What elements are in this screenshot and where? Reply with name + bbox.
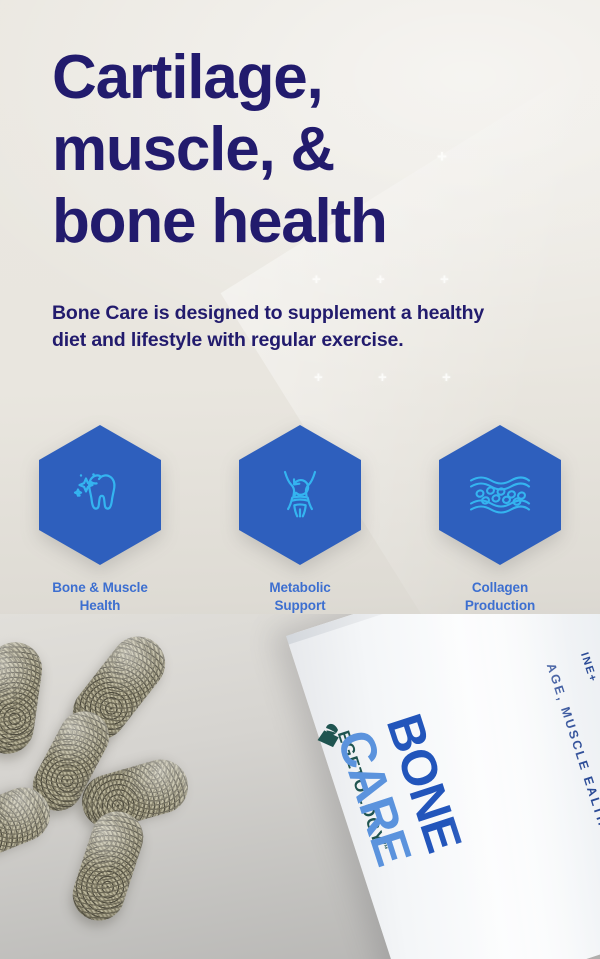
subheadline: Bone Care is designed to supplement a he… <box>52 300 522 354</box>
hex-badge-metabolic <box>239 425 361 565</box>
headline-line-3: bone health <box>52 186 572 258</box>
benefit-item-metabolic-support[interactable]: Metabolic Support <box>200 425 400 615</box>
collagen-fibers-icon <box>468 470 532 520</box>
torso-metabolism-icon <box>270 464 330 526</box>
product-ingredient-callout: INE+ <box>578 651 599 684</box>
plus-decoration-icon: + <box>314 370 323 385</box>
plus-decoration-icon: + <box>312 272 321 287</box>
benefit-label: Metabolic Support <box>269 579 330 615</box>
benefits-row: Bone & Muscle Health <box>0 425 600 615</box>
plus-decoration-icon: + <box>378 370 387 385</box>
tooth-sparkle-icon <box>69 464 131 526</box>
hex-badge-collagen <box>439 425 561 565</box>
plus-decoration-icon: + <box>442 370 451 385</box>
plus-decoration-icon: + <box>376 272 385 287</box>
promo-banner: +++++++ Cartilage, muscle, & bone health… <box>0 0 600 959</box>
product-tagline: AGE, MUSCLE EALTH <box>544 661 600 829</box>
page-title: Cartilage, muscle, & bone health <box>52 42 572 258</box>
benefit-item-bone-muscle-health[interactable]: Bone & Muscle Health <box>0 425 200 615</box>
product-photo: EGETOLOGY™ BONE CARE AGE, MUSCLE EALTH I… <box>0 614 600 959</box>
benefit-label: Bone & Muscle Health <box>52 579 147 615</box>
benefit-item-collagen-production[interactable]: Collagen Production <box>400 425 600 615</box>
headline-line-2: muscle, & <box>52 114 572 186</box>
plus-decoration-icon: + <box>440 272 449 287</box>
benefit-label: Collagen Production <box>465 579 535 615</box>
hex-badge-bone-muscle <box>39 425 161 565</box>
headline-line-1: Cartilage, <box>52 42 572 114</box>
